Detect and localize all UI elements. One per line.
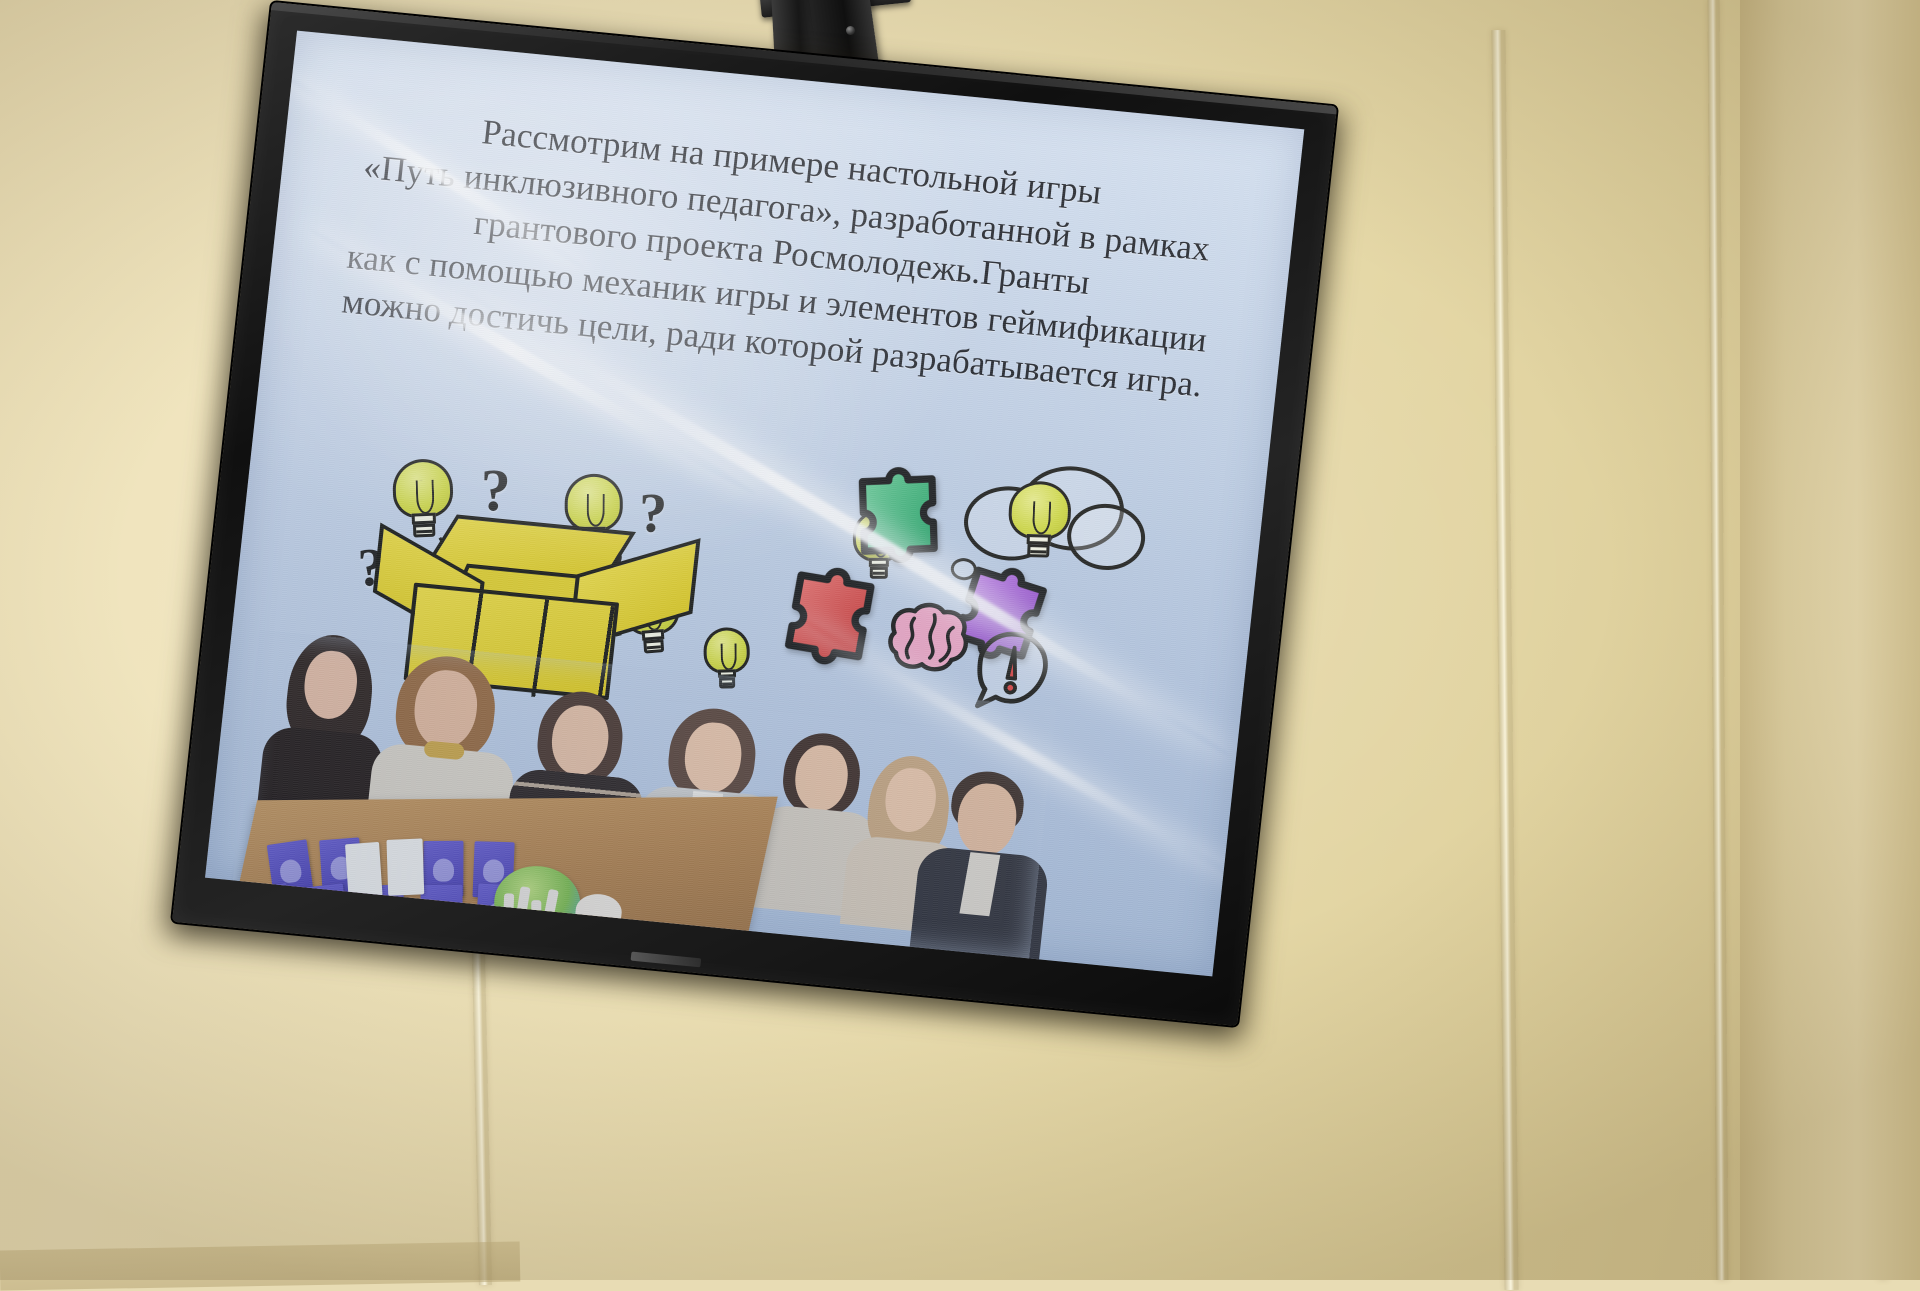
mount-bolt-upper [846, 26, 855, 35]
wall-baseboard [0, 1241, 520, 1290]
lightbulb-filament [721, 643, 736, 670]
wall-mounted-television[interactable]: Рассмотрим на примере настольной игры «П… [172, 2, 1337, 1026]
wall-panel-seam-far [1878, 0, 1888, 1280]
tv-brand-logo [631, 952, 702, 968]
wall-panel-seam-middle [1491, 30, 1518, 1290]
wall-panel-seam-right [1708, 0, 1729, 1280]
cloud-tail-bubble [950, 557, 978, 581]
lightbulb-icon [1007, 481, 1072, 561]
slide-graphics: ? ? ? ? [205, 359, 1269, 977]
tv-screen[interactable]: Рассмотрим на примере настольной игры «П… [205, 31, 1304, 977]
rule-card [345, 842, 383, 898]
presentation-slide: Рассмотрим на примере настольной игры «П… [205, 31, 1304, 977]
rule-card [386, 838, 424, 895]
person [908, 766, 1059, 977]
thought-cloud-icon [941, 447, 1165, 607]
lightbulb-neck [1026, 534, 1051, 545]
slide-body-text: Рассмотрим на примере настольной игры «П… [312, 95, 1252, 411]
lightbulb-base [1027, 544, 1050, 558]
wall-corner-panel [1740, 0, 1920, 1280]
